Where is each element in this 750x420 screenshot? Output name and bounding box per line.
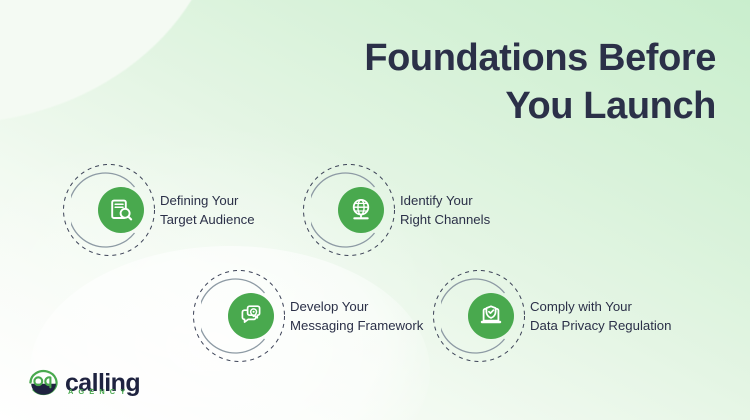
icon-badge xyxy=(468,293,514,339)
feature-item-comply-with-your-data-privacy-regulation[interactable]: Comply with Your Data Privacy Regulation xyxy=(432,269,671,363)
feature-item-label: Comply with Your Data Privacy Regulation xyxy=(530,297,671,335)
slide-title: Foundations Before You Launch xyxy=(246,34,716,131)
feature-item-identify-your-right-channels[interactable]: Identify Your Right Channels xyxy=(302,163,490,257)
brand-logo[interactable]: calling AGENCY xyxy=(27,369,140,397)
ca-monogram-icon xyxy=(27,369,61,397)
ring-decoration xyxy=(432,269,526,363)
chat-bubbles-pin-icon xyxy=(238,303,264,329)
ring-decoration xyxy=(192,269,286,363)
slide-canvas: Foundations Before You Launch Defining Y… xyxy=(0,0,750,420)
ring-decoration xyxy=(302,163,396,257)
icon-badge xyxy=(228,293,274,339)
icon-badge xyxy=(338,187,384,233)
icon-badge xyxy=(98,187,144,233)
logo-tagline: AGENCY xyxy=(68,388,130,395)
logo-text-group: calling AGENCY xyxy=(65,371,140,396)
feature-item-label: Defining Your Target Audience xyxy=(160,191,255,229)
background-blob-top-left xyxy=(0,0,237,135)
globe-stand-icon xyxy=(348,197,374,223)
document-search-icon xyxy=(108,197,134,223)
laptop-shield-check-icon xyxy=(478,303,504,329)
ring-decoration xyxy=(62,163,156,257)
feature-item-defining-your-target-audience[interactable]: Defining Your Target Audience xyxy=(62,163,255,257)
feature-item-label: Develop Your Messaging Framework xyxy=(290,297,423,335)
feature-item-develop-your-messaging-framework[interactable]: Develop Your Messaging Framework xyxy=(192,269,423,363)
feature-item-label: Identify Your Right Channels xyxy=(400,191,490,229)
